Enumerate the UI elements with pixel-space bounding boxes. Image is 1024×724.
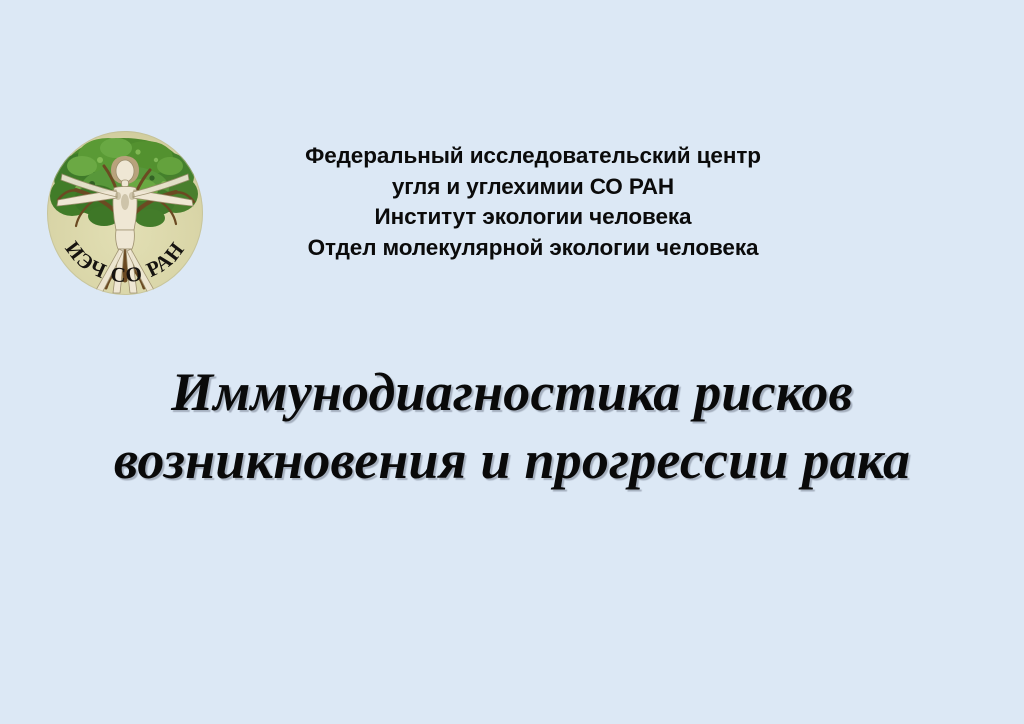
organization-header: Федеральный исследовательский центр угля… — [233, 141, 833, 263]
institute-logo-graphic: ИЭЧ СО РАН — [46, 130, 204, 296]
org-line-2: угля и углехимии СО РАН — [233, 172, 833, 203]
slide-title-line-1: Иммунодиагностика рисков — [0, 358, 1024, 426]
slide-title: Иммунодиагностика рисков возникновения и… — [0, 358, 1024, 494]
logo-clipped-content: ИЭЧ СО РАН — [46, 130, 204, 296]
institute-logo: ИЭЧ СО РАН — [46, 130, 204, 296]
slide-title-line-2: возникновения и прогрессии рака — [0, 426, 1024, 494]
presentation-slide: ИЭЧ СО РАН Федеральный исследовательский… — [0, 0, 1024, 724]
org-line-4: Отдел молекулярной экологии человека — [233, 233, 833, 264]
org-line-3: Институт экологии человека — [233, 202, 833, 233]
org-line-1: Федеральный исследовательский центр — [233, 141, 833, 172]
